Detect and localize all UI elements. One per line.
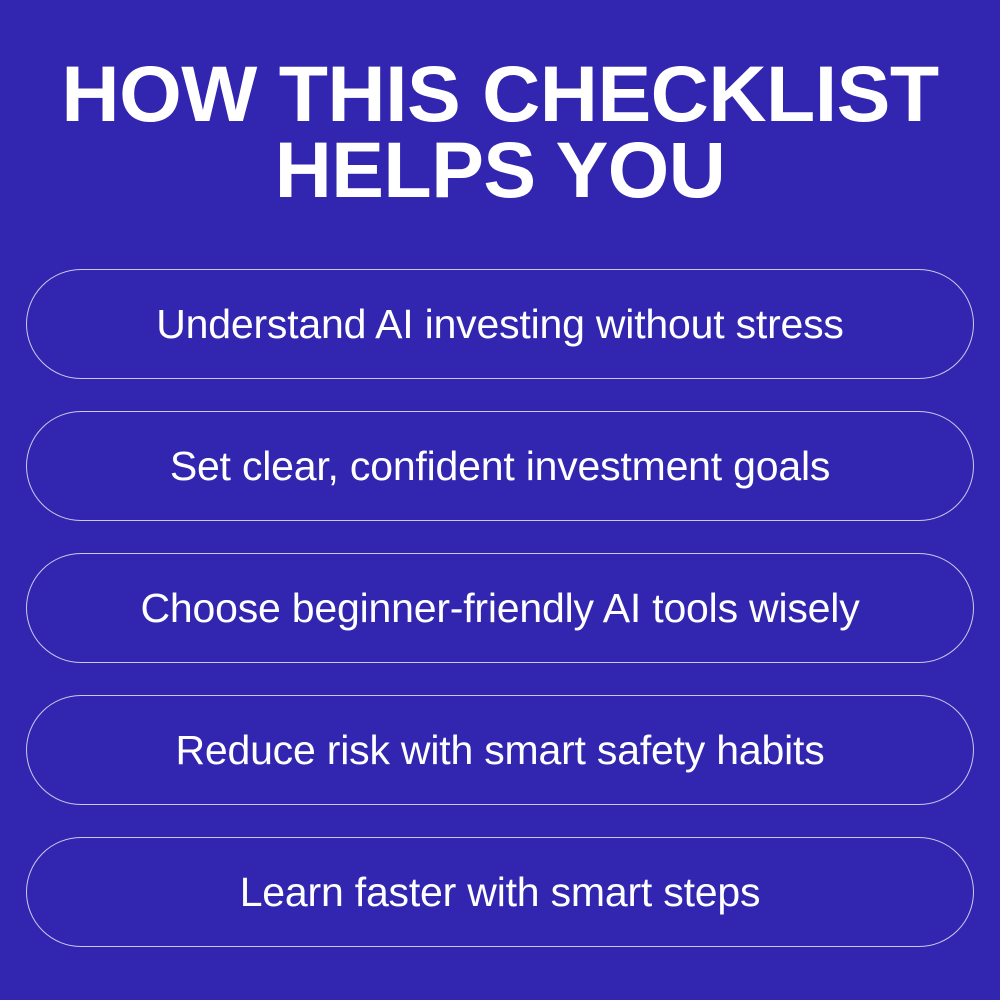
benefit-pill[interactable]: Set clear, confident investment goals (26, 411, 974, 521)
benefit-pill[interactable]: Choose beginner-friendly AI tools wisely (26, 553, 974, 663)
benefit-pill[interactable]: Reduce risk with smart safety habits (26, 695, 974, 805)
benefit-pill-label: Reduce risk with smart safety habits (175, 727, 824, 773)
benefit-pill-label: Learn faster with smart steps (240, 869, 761, 915)
benefit-pill-label: Understand AI investing without stress (156, 301, 843, 347)
benefit-pill-label: Choose beginner-friendly AI tools wisely (141, 585, 860, 631)
benefit-pill[interactable]: Understand AI investing without stress (26, 269, 974, 379)
benefit-pill-label: Set clear, confident investment goals (170, 443, 830, 489)
checklist-benefits-poster: HOW THIS CHECKLIST HELPS YOU Understand … (0, 0, 1000, 1000)
page-title-line-2: HELPS YOU (0, 132, 1000, 208)
page-title: HOW THIS CHECKLIST HELPS YOU (0, 56, 1000, 208)
page-title-line-1: HOW THIS CHECKLIST (0, 56, 1000, 132)
benefit-pill[interactable]: Learn faster with smart steps (26, 837, 974, 947)
benefit-pill-list: Understand AI investing without stress S… (26, 269, 974, 947)
